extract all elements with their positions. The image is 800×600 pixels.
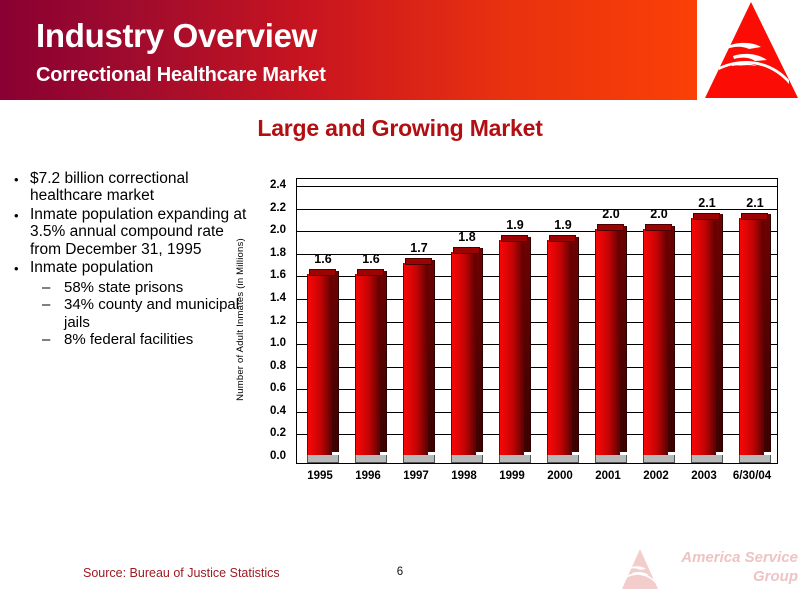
bar-front-face — [403, 263, 428, 455]
y-axis-title: Number of Adult Inmates (in Millions) — [232, 204, 248, 434]
x-axis-tick-label: 1999 — [488, 470, 536, 482]
eagle-triangle-logo — [703, 0, 800, 100]
list-item-label: $7.2 billion correctional healthcare mar… — [30, 170, 254, 205]
y-axis-tick-label: 1.8 — [248, 247, 286, 259]
x-axis-tick-label: 1998 — [440, 470, 488, 482]
bar — [403, 256, 435, 463]
bar-front-face — [355, 274, 380, 455]
x-axis-tick-label: 2003 — [680, 470, 728, 482]
bar-top-face — [501, 235, 528, 242]
bar-front-face — [307, 274, 332, 455]
bar-side-face — [668, 226, 675, 452]
bar-side-face — [476, 248, 483, 451]
bullet-marker-icon: • — [8, 206, 30, 225]
plot-area: 1.61.61.71.81.91.92.02.02.12.1 — [296, 178, 778, 464]
bar-base-shadow — [499, 455, 531, 463]
bar-side-face — [380, 271, 387, 452]
list-item-label: Inmate population expanding at 3.5% annu… — [30, 206, 254, 258]
bar-top-face — [453, 247, 480, 254]
y-axis-tick-label: 2.4 — [248, 179, 286, 191]
bar-base-shadow — [691, 455, 723, 463]
bar-top-face — [645, 224, 672, 231]
bar-top-face — [309, 269, 336, 276]
bar-front-face — [643, 229, 668, 455]
bar-value-label: 2.0 — [589, 207, 633, 221]
bar-base-shadow — [595, 455, 627, 463]
bar-side-face — [428, 260, 435, 452]
y-axis-tick-label: 2.2 — [248, 202, 286, 214]
bar — [499, 233, 531, 463]
x-axis-tick-label: 6/30/04 — [728, 470, 776, 482]
x-axis-tick-label: 1996 — [344, 470, 392, 482]
bar-top-face — [597, 224, 624, 231]
bar-value-label: 1.6 — [349, 252, 393, 266]
bar-top-face — [741, 213, 768, 220]
y-axis-tick-label: 1.4 — [248, 292, 286, 304]
bar-value-label: 1.9 — [493, 218, 537, 232]
bar-value-label: 2.1 — [733, 196, 777, 210]
y-axis-tick-label: 0.4 — [248, 405, 286, 417]
y-axis-tick-label: 2.0 — [248, 224, 286, 236]
gridline — [297, 186, 777, 187]
list-item: • Inmate population expanding at 3.5% an… — [8, 206, 254, 258]
bullet-marker-icon: • — [8, 170, 30, 189]
bar — [595, 222, 627, 463]
bar — [739, 211, 771, 463]
footer-logo-line1: America Service — [662, 548, 798, 567]
x-axis-tick-label: 2002 — [632, 470, 680, 482]
bar-side-face — [572, 237, 579, 452]
bar-side-face — [716, 214, 723, 451]
bar-side-face — [332, 271, 339, 452]
bar-base-shadow — [739, 455, 771, 463]
y-axis-tick-label: 0.2 — [248, 427, 286, 439]
bar — [355, 267, 387, 463]
list-item-label: 34% county and municipal jails — [64, 296, 254, 331]
bar-top-face — [549, 235, 576, 242]
bar-front-face — [691, 218, 716, 455]
bar-base-shadow — [451, 455, 483, 463]
footer-logo-text: America Service Group — [662, 548, 798, 586]
bar-chart: Number of Adult Inmates (in Millions) 2.… — [236, 176, 784, 486]
bar-top-face — [357, 269, 384, 276]
bar-side-face — [620, 226, 627, 452]
bar-value-label: 1.7 — [397, 241, 441, 255]
bar-base-shadow — [355, 455, 387, 463]
list-item: – 8% federal facilities — [8, 331, 254, 348]
list-item-label: 58% state prisons — [64, 279, 254, 296]
x-axis-tick-label: 1997 — [392, 470, 440, 482]
bar-front-face — [451, 252, 476, 455]
bar-value-label: 2.0 — [637, 207, 681, 221]
bar-front-face — [739, 218, 764, 455]
footer-logo: America Service Group — [620, 546, 798, 592]
x-axis-tick-label: 1995 — [296, 470, 344, 482]
bar-value-label: 1.9 — [541, 218, 585, 232]
y-axis-tick-label: 1.6 — [248, 269, 286, 281]
bar-base-shadow — [547, 455, 579, 463]
page-title: Large and Growing Market — [0, 115, 800, 142]
bar-side-face — [524, 237, 531, 452]
bar — [307, 267, 339, 463]
bar-top-face — [405, 258, 432, 265]
dash-marker-icon: – — [42, 279, 64, 296]
bar-top-face — [693, 213, 720, 220]
y-axis-tick-label: 1.0 — [248, 337, 286, 349]
list-item: • Inmate population — [8, 259, 254, 278]
bullet-list: • $7.2 billion correctional healthcare m… — [8, 170, 254, 349]
bar-value-label: 1.6 — [301, 252, 345, 266]
y-axis-ticks: 2.42.22.01.81.61.41.21.00.80.60.40.20.0 — [250, 176, 290, 466]
y-axis-tick-label: 1.2 — [248, 315, 286, 327]
bar-value-label: 1.8 — [445, 230, 489, 244]
x-axis-ticks: 1995199619971998199920002001200220036/30… — [296, 470, 778, 488]
bar — [547, 233, 579, 463]
bar — [643, 222, 675, 463]
y-axis-title-label: Number of Adult Inmates (in Millions) — [235, 238, 246, 401]
dash-marker-icon: – — [42, 296, 64, 313]
list-item: – 58% state prisons — [8, 279, 254, 296]
bar-value-label: 2.1 — [685, 196, 729, 210]
y-axis-tick-label: 0.8 — [248, 360, 286, 372]
bar — [451, 245, 483, 463]
bar-front-face — [547, 240, 572, 455]
dash-marker-icon: – — [42, 331, 64, 348]
list-item-label: 8% federal facilities — [64, 331, 254, 348]
header-title: Industry Overview — [36, 17, 317, 55]
bar-side-face — [764, 214, 771, 451]
list-item: • $7.2 billion correctional healthcare m… — [8, 170, 254, 205]
bar-front-face — [499, 240, 524, 455]
y-axis-tick-label: 0.6 — [248, 382, 286, 394]
bar-base-shadow — [403, 455, 435, 463]
bar — [691, 211, 723, 463]
x-axis-tick-label: 2001 — [584, 470, 632, 482]
list-item: – 34% county and municipal jails — [8, 296, 254, 331]
footer-logo-line2: Group — [662, 567, 798, 586]
x-axis-tick-label: 2000 — [536, 470, 584, 482]
bar-base-shadow — [307, 455, 339, 463]
bar-base-shadow — [643, 455, 675, 463]
bullet-marker-icon: • — [8, 259, 30, 278]
list-item-label: Inmate population — [30, 259, 254, 276]
y-axis-tick-label: 0.0 — [248, 450, 286, 462]
header-subtitle: Correctional Healthcare Market — [36, 64, 326, 87]
bar-front-face — [595, 229, 620, 455]
